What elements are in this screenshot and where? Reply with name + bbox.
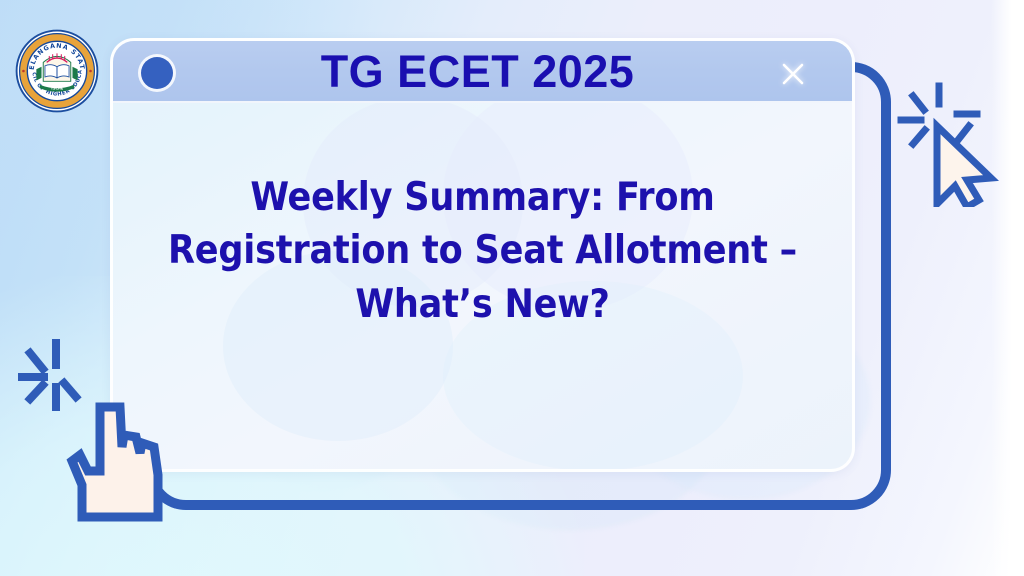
close-icon bbox=[778, 59, 808, 89]
tgsche-logo: TELANGANA STATE COUNCIL OF HIGHER EDUCAT… bbox=[14, 28, 100, 114]
click-hand-cursor-icon bbox=[18, 325, 193, 540]
window-title: TG ECET 2025 bbox=[113, 41, 852, 103]
svg-text:TSCHE: TSCHE bbox=[51, 86, 64, 90]
click-arrow-cursor-icon bbox=[895, 82, 1007, 207]
close-button[interactable] bbox=[776, 57, 810, 91]
headline-text: Weekly Summary: From Registration to Sea… bbox=[153, 171, 813, 331]
window-card: TG ECET 2025 Weekly Summary: From Regist… bbox=[110, 38, 855, 472]
window-body: Weekly Summary: From Registration to Sea… bbox=[113, 103, 852, 469]
app-window: TG ECET 2025 Weekly Summary: From Regist… bbox=[110, 38, 900, 498]
window-titlebar: TG ECET 2025 bbox=[113, 41, 852, 103]
